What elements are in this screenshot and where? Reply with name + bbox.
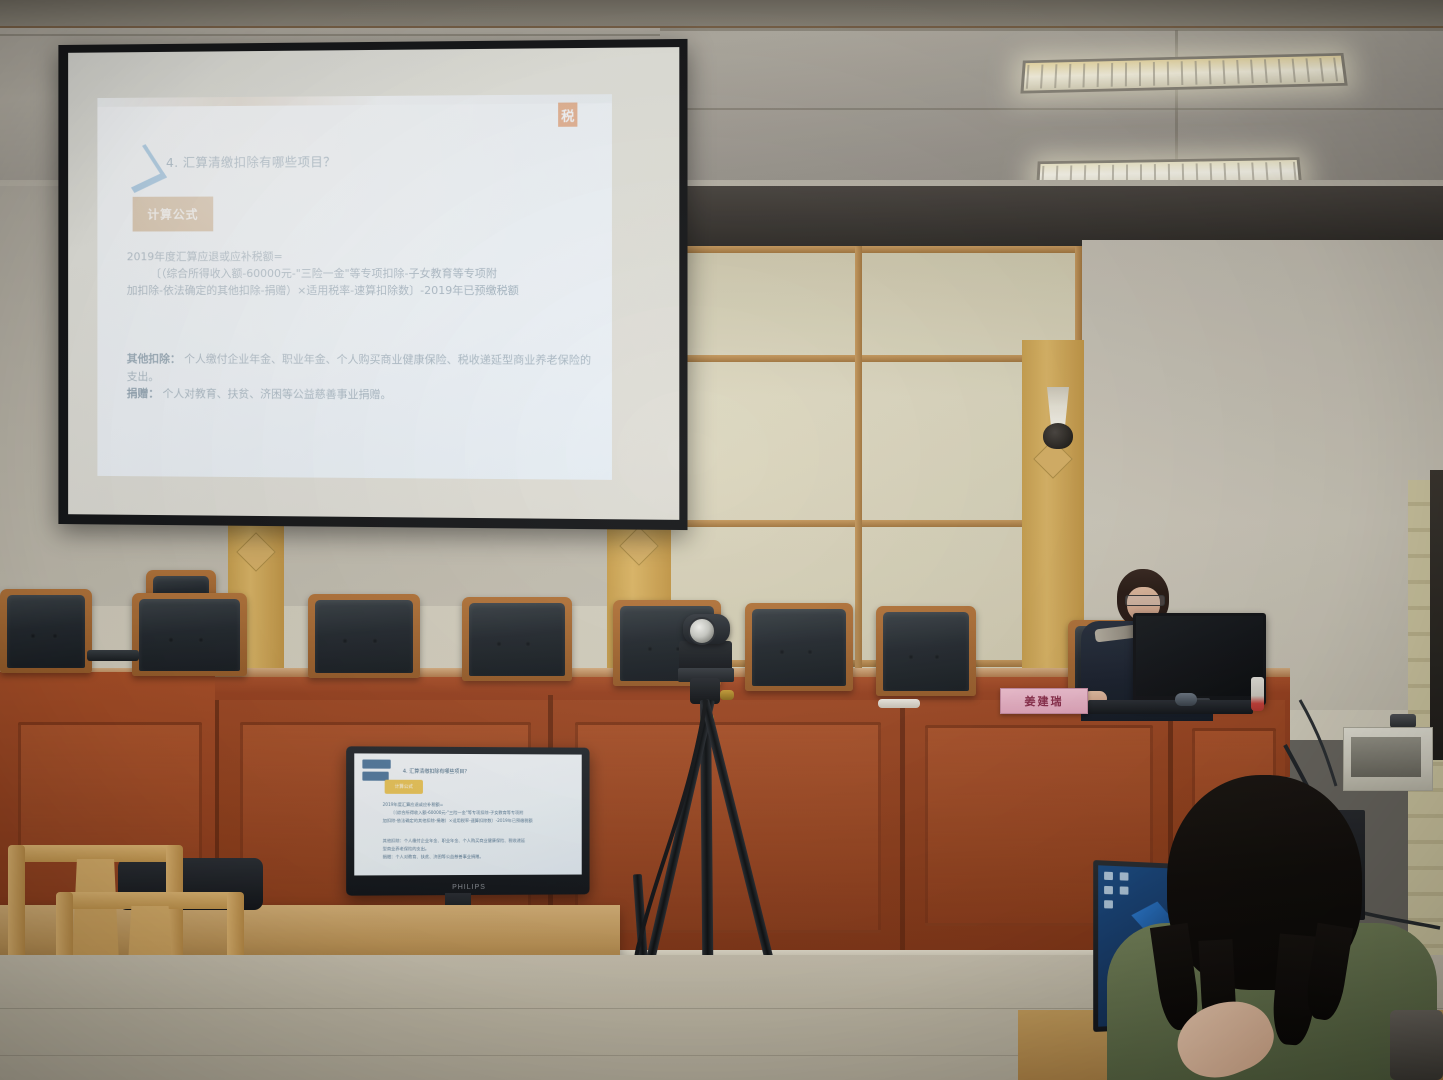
wall-sconce-base: [1043, 423, 1073, 449]
person-partial-right: [1390, 1010, 1443, 1080]
chair-tuft: [934, 654, 940, 660]
wall-trim: [662, 520, 1082, 527]
slide-logo-icon: 税: [558, 102, 577, 126]
mirror-line-2: 加扣除-依法确定的其他扣除-捐赠）×适用税率-速算扣除数〕-2019年已预缴税额: [383, 818, 533, 824]
bench-panel: [575, 722, 881, 933]
chair-cushion: [469, 603, 565, 676]
ceiling-seam: [660, 108, 1443, 110]
donation-row: 捐赠： 个人对教育、扶贫、济困等公益慈善事业捐赠。: [127, 385, 596, 405]
projection-screen: 税 4. 汇算清缴扣除有哪些项目？ 计算公式 2019年度汇算应退或应补税额= …: [58, 39, 687, 530]
projection-screen-surface: 税 4. 汇算清缴扣除有哪些项目？ 计算公式 2019年度汇算应退或应补税额= …: [68, 47, 679, 520]
desk-nameplate: 姜建瑞: [1000, 688, 1088, 714]
chair-cushion: [139, 599, 240, 671]
chair-cushion: [883, 612, 969, 691]
chair-tuft: [30, 633, 36, 639]
formula-heading: 2019年度汇算应退或应补税额=: [127, 248, 592, 266]
pillar-diamond-accent: [236, 532, 276, 572]
donation-label: 捐赠：: [127, 387, 159, 400]
conference-chair: [0, 589, 92, 673]
conference-chair: [876, 606, 976, 696]
other-deductions-row: 其他扣除： 个人缴付企业年金、职业年金、个人购买商业健康保险、税收递延型商业养老…: [127, 350, 596, 387]
pillar-diamond-accent: [619, 526, 659, 566]
desk-mouse: [1175, 693, 1197, 706]
slide-chip: [362, 759, 390, 768]
slide-top-bar: [97, 94, 612, 107]
slide-title: 4. 汇算清缴扣除有哪些项目？: [166, 151, 336, 171]
bench-divider: [900, 700, 905, 950]
other-deductions-text: 个人缴付企业年金、职业年金、个人购买商业健康保险、税收递延型商业养老保险的支出。: [127, 352, 591, 382]
chair-tuft: [342, 638, 348, 644]
mirror-heading: 2019年度汇算应退或应补税额=: [383, 802, 444, 808]
chair-tuft: [372, 638, 378, 644]
chair-tuft: [779, 649, 785, 655]
chair-tuft: [168, 637, 174, 643]
wall-trim: [855, 246, 862, 676]
chair-tuft: [525, 641, 531, 647]
slide-notes-block: 其他扣除： 个人缴付企业年金、职业年金、个人购买商业健康保险、税收递延型商业养老…: [127, 350, 596, 405]
light-diffuser-grid: [1026, 58, 1342, 89]
chair-cushion: [315, 600, 413, 673]
wall-panel-grid: [662, 246, 1082, 676]
chair-tuft: [908, 654, 914, 660]
wall-trim: [662, 246, 1082, 253]
wall-right-dark-panel: [1430, 470, 1443, 760]
mirror-lower-3: 捐赠：个人对教育、扶贫、济困等公益慈善事业捐赠。: [383, 854, 484, 860]
monitor-screen: [1136, 616, 1263, 696]
ceiling-seam: [0, 34, 660, 36]
mirror-slide-tag: 计算公式: [385, 780, 423, 794]
chair-cushion: [7, 595, 85, 668]
ceiling-seam: [660, 28, 1443, 31]
equipment-box: [1390, 714, 1416, 728]
mirrored-slide: 4. 汇算清缴扣除有哪些项目？ 计算公式 2019年度汇算应退或应补税额= 〔（…: [354, 753, 581, 875]
slide-formula-block: 2019年度汇算应退或应补税额= 〔（综合所得收入额-60000元-"三险一金"…: [127, 248, 592, 300]
officer-glasses: [1125, 595, 1165, 606]
slide-tag-label: 计算公式: [147, 206, 198, 223]
chair-tuft: [198, 637, 204, 643]
chair-tuft: [647, 646, 653, 652]
chair-tuft: [496, 641, 502, 647]
mirror-lower-2: 型商业养老保险的支出。: [383, 846, 429, 852]
formula-line-1: 〔（综合所得收入额-60000元-"三险一金"等专项扣除-子女教育等专项附: [127, 265, 592, 282]
conference-chair: [745, 603, 853, 691]
mirror-line-1: 〔（综合所得收入额-60000元-"三险一金"等专项扣除-子女教育等专项附: [391, 810, 524, 816]
camera-lens-icon: [688, 617, 716, 645]
formula-line-2: 加扣除-依法确定的其他扣除-捐赠）×适用税率-速算扣除数〕-2019年已预缴税额: [127, 282, 592, 299]
tripod-lock-knob: [720, 690, 734, 700]
wall-trim: [662, 355, 1082, 362]
conference-chair: [308, 594, 420, 678]
chair-tuft: [52, 633, 58, 639]
projected-slide: 税 4. 汇算清缴扣除有哪些项目？ 计算公式 2019年度汇算应退或应补税额= …: [97, 94, 612, 480]
desk-keyboard: [1088, 700, 1253, 714]
other-deductions-label: 其他扣除：: [127, 352, 181, 365]
water-bottle: [1251, 677, 1264, 711]
wall-upper-dark-band: [660, 186, 1443, 248]
mirror-tag-label: 计算公式: [395, 784, 413, 790]
chevron-right-icon: [113, 144, 167, 193]
officer-desk-monitor: [1133, 613, 1266, 705]
ceiling-seam: [1175, 30, 1178, 180]
mirror-lower-1: 其他扣除：个人缴付企业年金、职业年金、个人购买商业健康保险、税收递延: [383, 838, 525, 844]
cabinet-cavity: [1351, 737, 1421, 777]
chair-armrest: [87, 650, 139, 661]
nameplate-text: 姜建瑞: [1025, 693, 1064, 709]
mirror-slide-title: 4. 汇算清缴扣除有哪些项目？: [403, 768, 470, 775]
conference-chair: [462, 597, 572, 681]
paper-cup: [878, 699, 920, 708]
conference-chair: [132, 593, 247, 676]
room-photo-scene: 税 4. 汇算清缴扣除有哪些项目？ 计算公式 2019年度汇算应退或应补税额= …: [0, 0, 1443, 1080]
monitor-brand-label: PHILIPS: [452, 884, 486, 891]
slide-tag-box: 计算公式: [133, 197, 214, 232]
chair-tuft: [807, 649, 813, 655]
donation-text: 个人对教育、扶贫、济困等公益慈善事业捐赠。: [163, 387, 392, 401]
chair-cushion: [752, 609, 846, 686]
foreground-monitor-screen: 4. 汇算清缴扣除有哪些项目？ 计算公式 2019年度汇算应退或应补税额= 〔（…: [354, 753, 581, 875]
foreground-monitor: 4. 汇算清缴扣除有哪些项目？ 计算公式 2019年度汇算应退或应补税额= 〔（…: [346, 746, 589, 895]
ceiling-edge-strip: [0, 0, 1443, 28]
